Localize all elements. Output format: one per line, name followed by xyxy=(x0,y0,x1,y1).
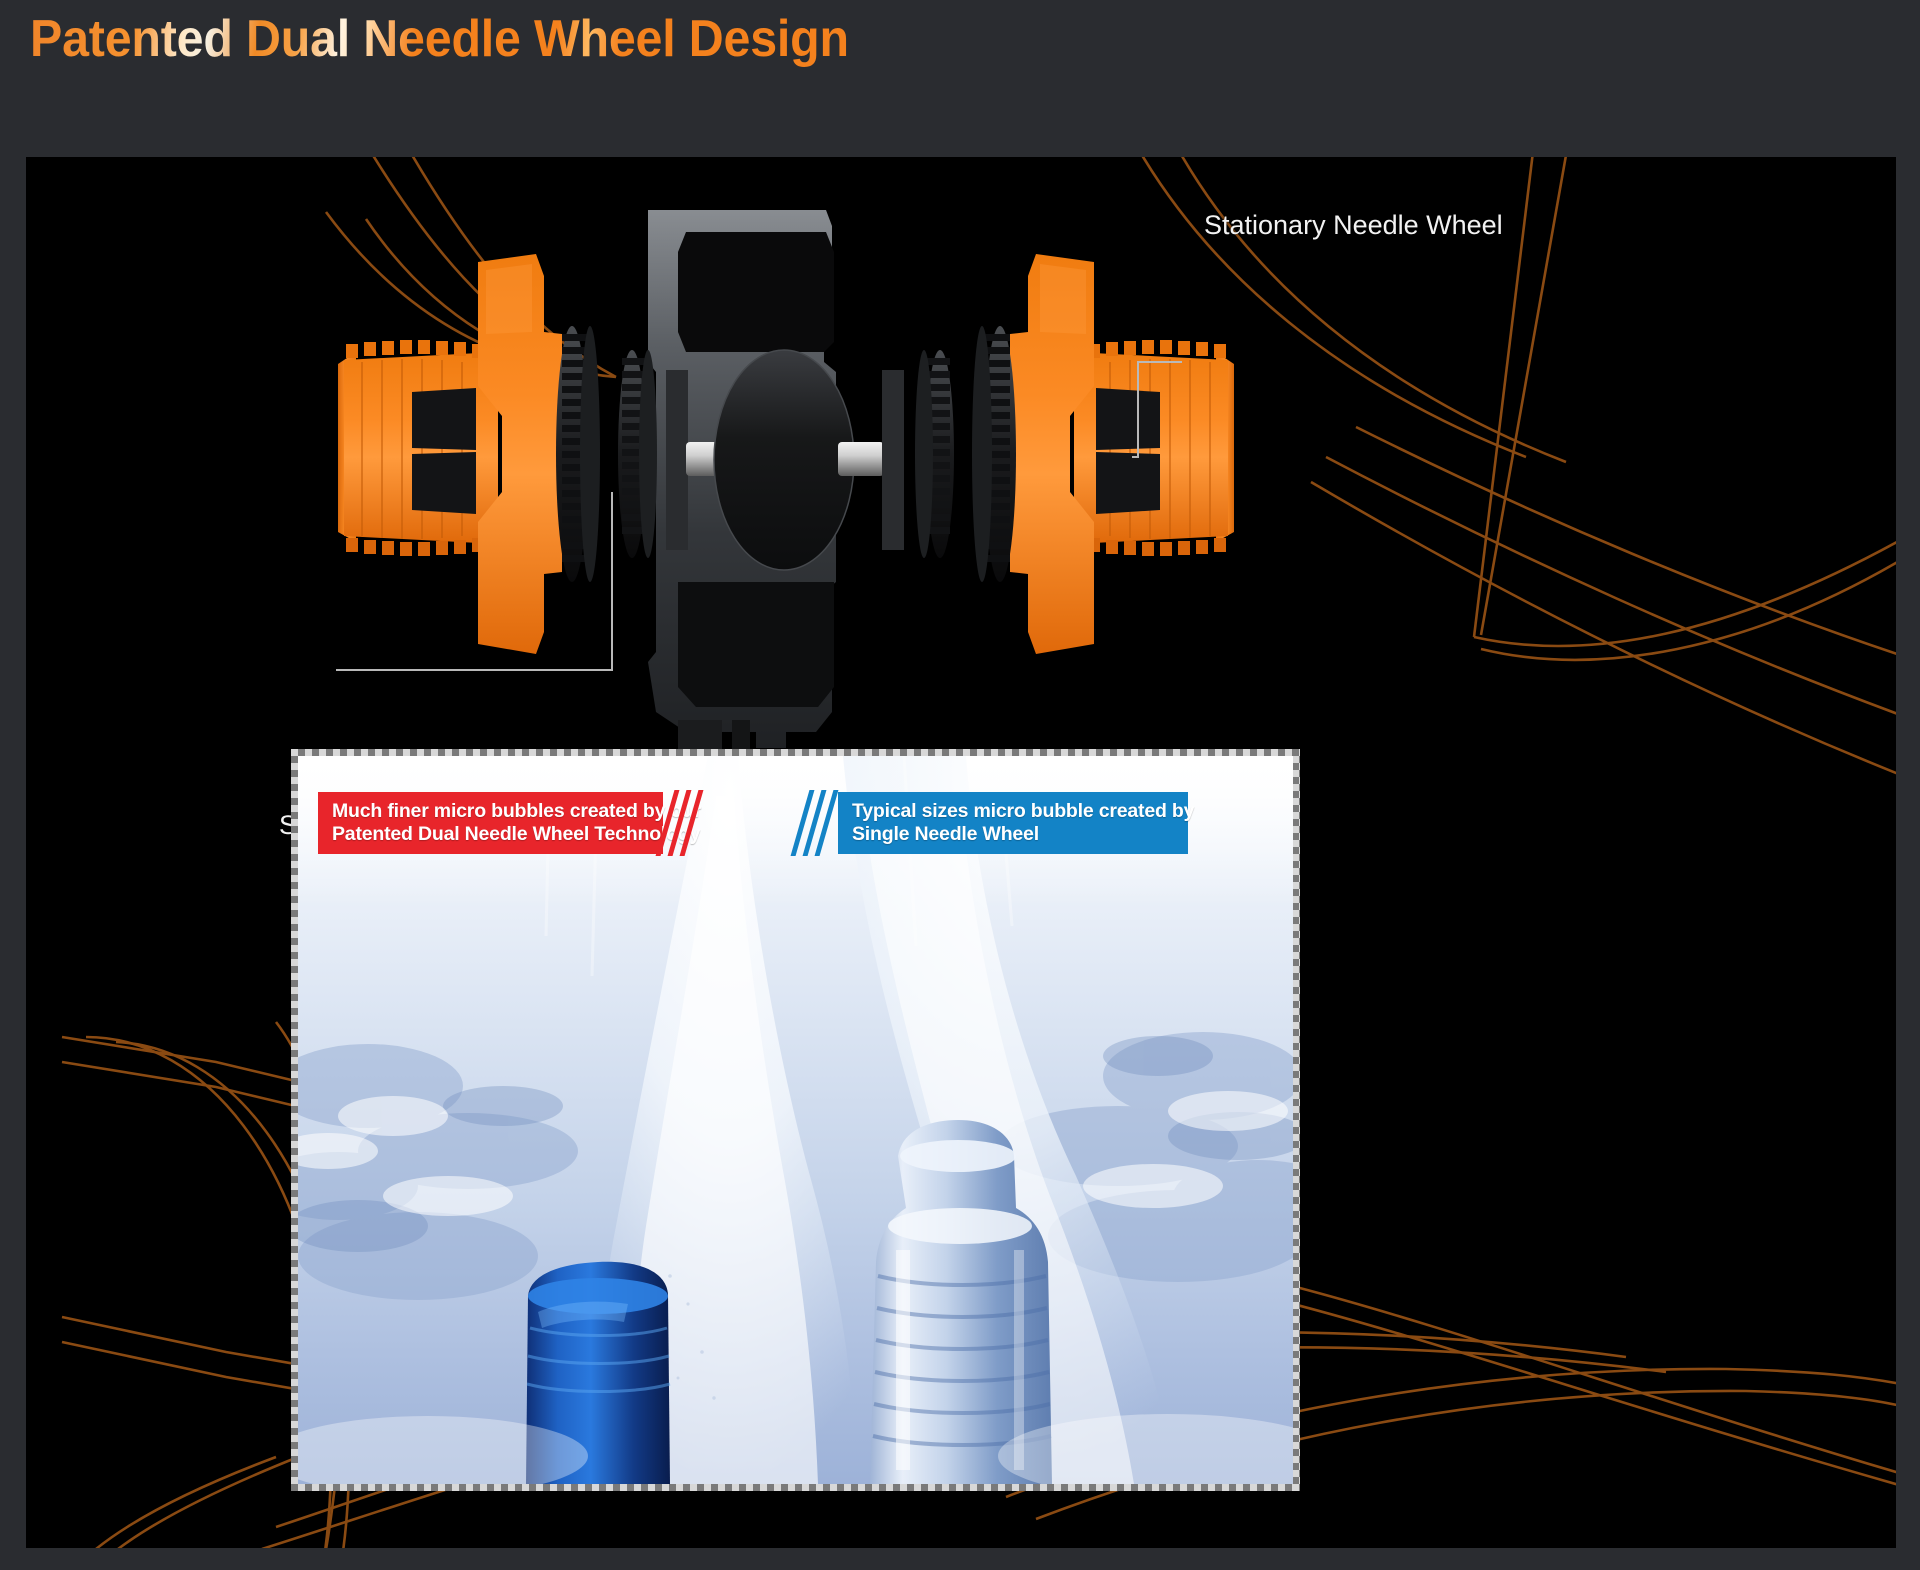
banner-blue-line2: Single Needle Wheel xyxy=(852,823,1176,846)
banner-dual-needle-wheel: Much finer micro bubbles created by our … xyxy=(318,792,663,854)
banner-red-line2: Patented Dual Needle Wheel Technology xyxy=(332,823,651,846)
slide-content-stage: Stationary Needle Wheel Spinning Needle … xyxy=(26,157,1896,1548)
slide-root: Patented Dual Needle Wheel Design xyxy=(0,0,1920,1570)
callout-label-stationary-needle-wheel: Stationary Needle Wheel xyxy=(1204,210,1503,240)
page-title: Patented Dual Needle Wheel Design xyxy=(30,8,849,70)
blue-banner-slash-decoration xyxy=(798,792,838,854)
comparison-photo-image xyxy=(298,756,1293,1484)
comparison-photo-frame: Much finer micro bubbles created by our … xyxy=(291,749,1300,1491)
banner-blue-line1: Typical sizes micro bubble created by xyxy=(852,800,1176,823)
slide-title-bar: Patented Dual Needle Wheel Design xyxy=(0,0,1920,157)
red-banner-slash-decoration xyxy=(663,792,703,854)
banner-red-line1: Much finer micro bubbles created by our xyxy=(332,800,651,823)
comparison-photo: Much finer micro bubbles created by our … xyxy=(298,756,1293,1484)
dual-needle-wheel-diagram xyxy=(326,192,1246,752)
banner-single-needle-wheel: Typical sizes micro bubble created by Si… xyxy=(838,792,1188,854)
